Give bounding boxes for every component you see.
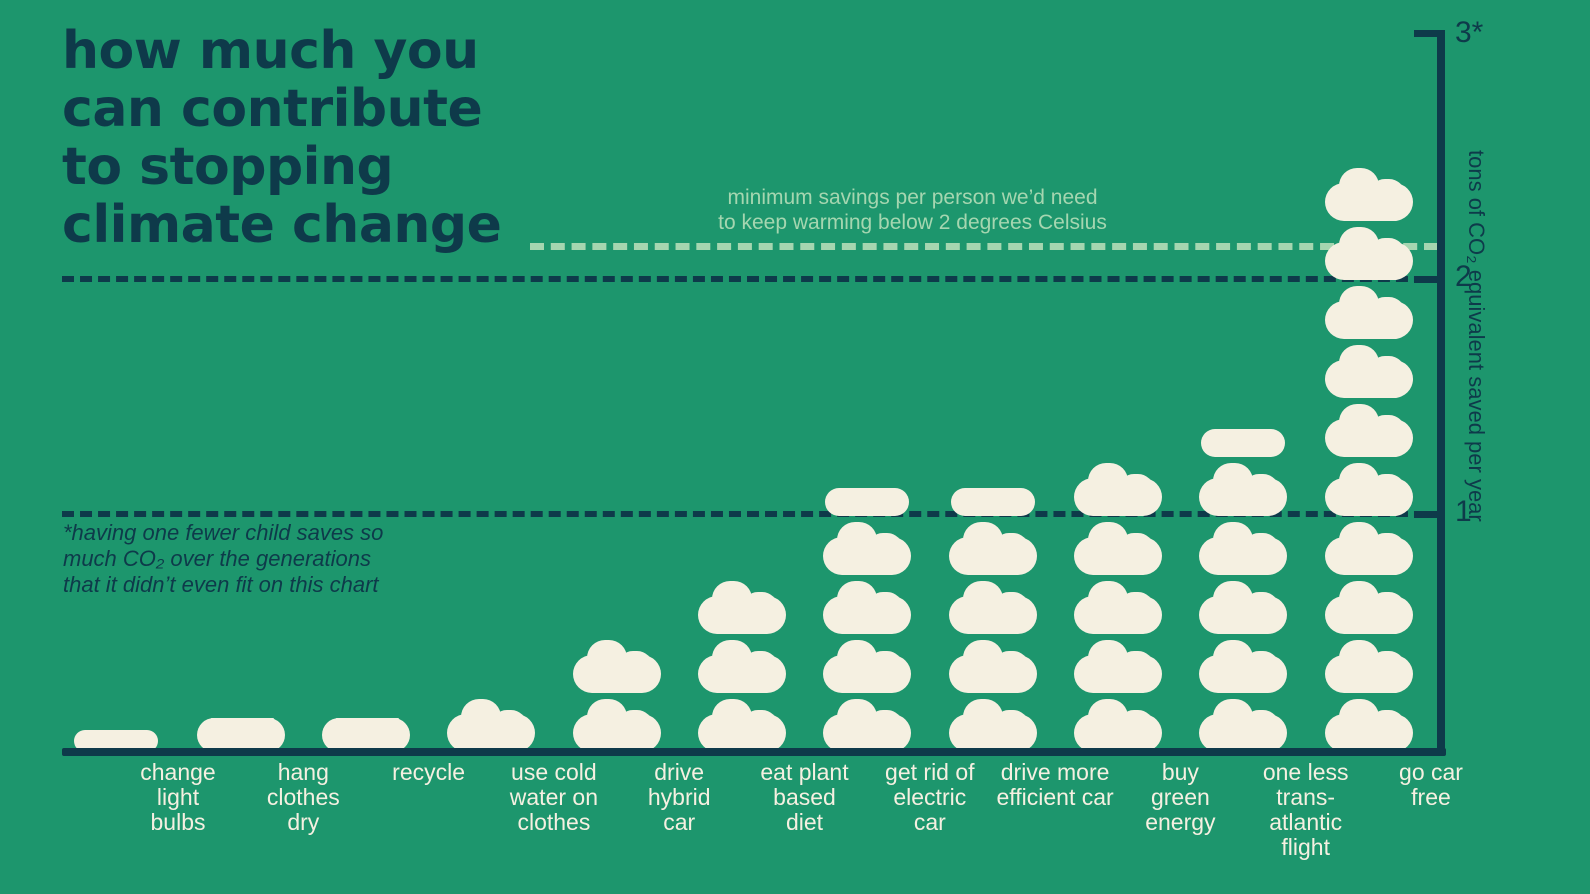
- cloud-part: [1243, 474, 1279, 502]
- cloud-partial-icon: [197, 718, 285, 752]
- cloud-part: [1118, 592, 1154, 620]
- cloud-part: [1369, 179, 1405, 207]
- cloud-icon: [949, 640, 1037, 693]
- cloud-icon: [1199, 581, 1287, 634]
- cloud-part: [1369, 533, 1405, 561]
- partial-unit-bar: [951, 488, 1035, 516]
- bar-recycle[interactable]: [304, 712, 429, 752]
- y-tick-mark-3: [1414, 30, 1438, 37]
- y-tick-mark-2: [1414, 276, 1438, 283]
- cloud-part: [1369, 356, 1405, 384]
- cloud-icon: [1199, 463, 1287, 516]
- cloud-part: [867, 651, 903, 679]
- cloud-icon: [447, 699, 535, 752]
- cloud-icon: [573, 699, 661, 752]
- cloud-icon: [949, 581, 1037, 634]
- cloud-part: [1369, 238, 1405, 266]
- cloud-icon: [1325, 286, 1413, 339]
- cloud-icon: [949, 522, 1037, 575]
- bar-use-cold-water-on-clothes[interactable]: [429, 693, 554, 752]
- bar-buy-green-energy[interactable]: [1055, 457, 1180, 752]
- cloud-part: [867, 592, 903, 620]
- cloud-icon: [1199, 699, 1287, 752]
- cloud-partial-icon: [322, 718, 410, 752]
- partial-unit-bar: [1201, 429, 1285, 457]
- cloud-part: [993, 710, 1029, 738]
- bar-eat-plant-based-diet[interactable]: [680, 575, 805, 752]
- cloud-icon: [949, 699, 1037, 752]
- cloud-part: [1243, 533, 1279, 561]
- cloud-part: [742, 651, 778, 679]
- cloud-part: [1118, 710, 1154, 738]
- bar-drive-more-efficient-car[interactable]: [930, 482, 1055, 752]
- cloud-icon: [1325, 463, 1413, 516]
- cloud-part: [1369, 651, 1405, 679]
- cloud-icon: [698, 699, 786, 752]
- cloud-part: [1369, 415, 1405, 443]
- cloud-part: [1243, 592, 1279, 620]
- cloud-icon: [1325, 345, 1413, 398]
- cloud-icon: [1074, 522, 1162, 575]
- cloud-part: [366, 718, 402, 740]
- cloud-icon: [1325, 581, 1413, 634]
- cloud-part: [1118, 533, 1154, 561]
- cloud-part: [617, 710, 653, 738]
- cloud-icon: [1325, 404, 1413, 457]
- cloud-part: [867, 710, 903, 738]
- cloud-icon: [1074, 699, 1162, 752]
- cloud-part: [993, 592, 1029, 620]
- cloud-part: [491, 710, 527, 738]
- cloud-icon: [1074, 581, 1162, 634]
- cloud-icon: [823, 581, 911, 634]
- cloud-icon: [698, 581, 786, 634]
- cloud-part: [1243, 710, 1279, 738]
- partial-unit-bar: [825, 488, 909, 516]
- cloud-part: [1118, 474, 1154, 502]
- cloud-icon: [1325, 168, 1413, 221]
- cloud-part: [1369, 710, 1405, 738]
- cloud-icon: [1074, 463, 1162, 516]
- y-tick-label-3: 3*: [1455, 18, 1483, 48]
- bar-get-rid-of-electric-car[interactable]: [805, 482, 930, 752]
- cloud-part: [617, 651, 653, 679]
- cloud-icon: [1325, 640, 1413, 693]
- cloud-part: [867, 533, 903, 561]
- cloud-icon: [1325, 522, 1413, 575]
- infographic-canvas: how much you can contribute to stopping …: [0, 0, 1590, 894]
- y-tick-mark-1: [1414, 511, 1438, 518]
- cloud-part: [993, 651, 1029, 679]
- y-axis-line: [1437, 30, 1445, 752]
- cloud-part: [1369, 474, 1405, 502]
- cloud-icon: [823, 522, 911, 575]
- bar-drive-hybrid-car[interactable]: [554, 634, 679, 752]
- bar-one-less-trans-atlantic-flight[interactable]: [1181, 423, 1306, 752]
- cloud-part: [241, 718, 277, 740]
- cloud-icon: [1325, 699, 1413, 752]
- cloud-part: [1369, 297, 1405, 325]
- cloud-part: [1118, 651, 1154, 679]
- cloud-part: [1369, 592, 1405, 620]
- cloud-part: [1243, 651, 1279, 679]
- x-axis-line: [62, 748, 1446, 756]
- bar-go-car-free[interactable]: [1306, 162, 1431, 752]
- cloud-icon: [1074, 640, 1162, 693]
- x-axis-label-go-car-free: go car free: [1356, 760, 1506, 810]
- bar-hang-clothes-dry[interactable]: [178, 712, 303, 752]
- cloud-icon: [698, 640, 786, 693]
- cloud-icon: [1199, 640, 1287, 693]
- cloud-icon: [823, 640, 911, 693]
- cloud-icon: [1325, 227, 1413, 280]
- cloud-icon: [823, 699, 911, 752]
- cloud-icon: [1199, 522, 1287, 575]
- cloud-icon: [573, 640, 661, 693]
- cloud-part: [742, 710, 778, 738]
- bars-plot-area: [62, 30, 1440, 752]
- cloud-part: [742, 592, 778, 620]
- cloud-part: [993, 533, 1029, 561]
- y-axis-title: tons of CO₂ equivalent saved per year: [1463, 150, 1489, 522]
